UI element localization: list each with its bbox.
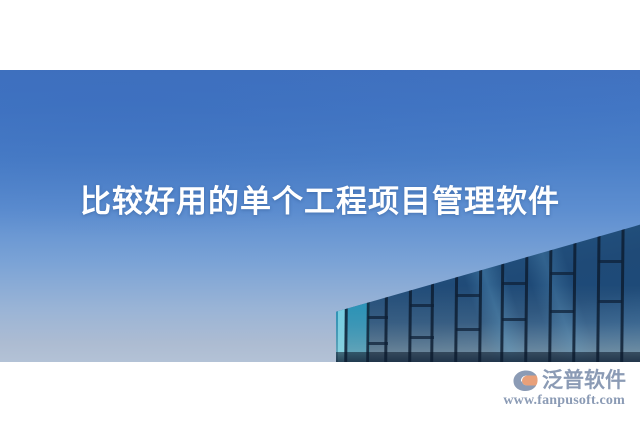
transom <box>410 304 434 307</box>
transom <box>598 300 622 303</box>
banner-image: 比较好用的单个工程项目管理软件 <box>0 70 640 362</box>
mullion <box>596 220 601 362</box>
transom <box>502 282 526 285</box>
transom <box>456 328 480 331</box>
transom <box>550 272 574 275</box>
page-title: 比较好用的单个工程项目管理软件 <box>0 187 640 218</box>
brand-website: www.fanpusoft.com <box>503 394 625 408</box>
brand-name: 泛普软件 <box>542 370 626 391</box>
transom <box>502 318 526 321</box>
transom <box>368 342 388 345</box>
transom <box>598 260 622 263</box>
page-root: 比较好用的单个工程项目管理软件 泛普软件 www.fanpusoft.com <box>0 0 640 427</box>
brand-logo: 泛普软件 www.fanpusoft.com <box>503 368 626 408</box>
transom <box>456 294 480 297</box>
mullion <box>620 220 625 362</box>
brand-logo-row: 泛普软件 <box>512 368 626 393</box>
building-soffit <box>336 352 640 362</box>
fanpu-swoosh-icon <box>512 368 539 393</box>
transom <box>550 310 574 313</box>
transom <box>368 316 388 319</box>
transom <box>410 336 434 339</box>
